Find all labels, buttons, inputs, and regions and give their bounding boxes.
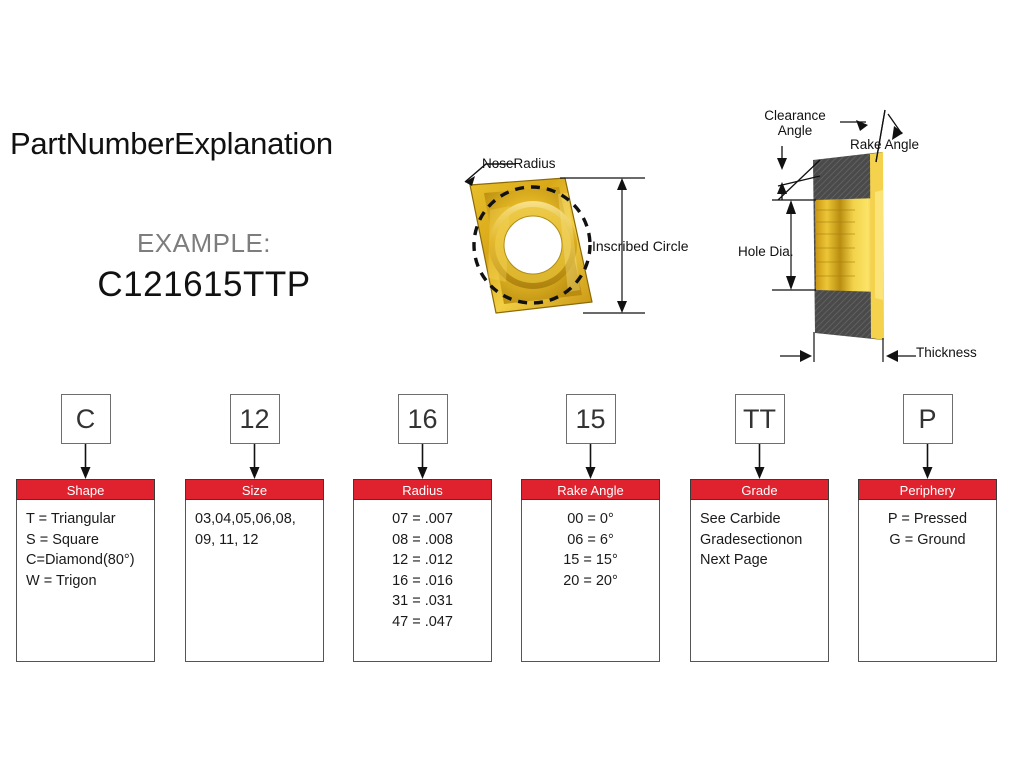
code-chip-shape: C xyxy=(61,394,111,444)
code-chip-size: 12 xyxy=(230,394,280,444)
column-header: Grade xyxy=(690,479,829,500)
column-size: Size03,04,05,06,08,09, 11, 12 xyxy=(185,479,324,662)
clearance-arrow-down xyxy=(777,158,787,170)
hole-dia-label: Hole Dia. xyxy=(738,244,794,259)
column-body: T = TriangularS = SquareC=Diamond(80°)W … xyxy=(16,500,155,662)
example-label: EXAMPLE: xyxy=(44,228,364,259)
column-radius: Radius07 = .00708 = .00812 = .01216 = .0… xyxy=(353,479,492,662)
column-line: P = Pressed xyxy=(859,509,996,530)
chip-arrow xyxy=(754,444,765,480)
column-shape: ShapeT = TriangularS = SquareC=Diamond(8… xyxy=(16,479,155,662)
column-line: G = Ground xyxy=(859,530,996,551)
column-line: 03,04,05,06,08, xyxy=(186,509,323,530)
column-header: Periphery xyxy=(858,479,997,500)
column-line: 31 = .031 xyxy=(354,591,491,612)
column-header: Size xyxy=(185,479,324,500)
rake-angle-label: Rake Angle xyxy=(850,137,919,152)
column-line: 20 = 20° xyxy=(522,571,659,592)
page-title: PartNumberExplanation xyxy=(10,126,430,162)
chip-arrow xyxy=(585,444,596,480)
column-periphery: PeripheryP = PressedG = Ground xyxy=(858,479,997,662)
diagram-canvas: PartNumberExplanation EXAMPLE: C121615TT… xyxy=(0,0,1024,768)
chip-arrow xyxy=(249,444,260,480)
column-line: 08 = .008 xyxy=(354,530,491,551)
insert-cross-section-diagram: Clearance Angle Rake Angle Hole Dia. Thi… xyxy=(720,100,1024,380)
column-line: See Carbide xyxy=(691,509,828,530)
example-part-number: C121615TTP xyxy=(44,265,364,305)
code-chip-rake-angle: 15 xyxy=(566,394,616,444)
code-chip-periphery: P xyxy=(903,394,953,444)
code-chip-radius: 16 xyxy=(398,394,448,444)
column-line: 47 = .047 xyxy=(354,612,491,633)
column-header: Shape xyxy=(16,479,155,500)
column-body: 03,04,05,06,08,09, 11, 12 xyxy=(185,500,324,662)
column-line: 07 = .007 xyxy=(354,509,491,530)
chip-arrow xyxy=(922,444,933,480)
hole-arrow-up xyxy=(786,200,796,214)
thickness-arrow-right xyxy=(886,350,898,362)
ic-arrow-down xyxy=(617,301,627,313)
column-line: 00 = 0° xyxy=(522,509,659,530)
chip-arrow xyxy=(80,444,91,480)
column-line: W = Trigon xyxy=(17,571,154,592)
nose-radius-label: NoseRadius xyxy=(482,156,556,171)
column-body: 00 = 0°06 = 6°15 = 15°20 = 20° xyxy=(521,500,660,662)
code-chip-grade: TT xyxy=(735,394,785,444)
insert-face-diagram: NoseRadius Inscribed Circle xyxy=(440,150,730,350)
column-line: 15 = 15° xyxy=(522,550,659,571)
insert-body xyxy=(470,178,592,313)
clearance-angle-line2: Angle xyxy=(778,123,813,138)
column-line: 16 = .016 xyxy=(354,571,491,592)
column-header: Radius xyxy=(353,479,492,500)
column-rake-angle: Rake Angle00 = 0°06 = 6°15 = 15°20 = 20° xyxy=(521,479,660,662)
thickness-label: Thickness xyxy=(916,345,977,360)
column-line: Next Page xyxy=(691,550,828,571)
column-line: 12 = .012 xyxy=(354,550,491,571)
column-header: Rake Angle xyxy=(521,479,660,500)
insert-side-body xyxy=(813,152,884,340)
column-body: P = PressedG = Ground xyxy=(858,500,997,662)
column-body: See CarbideGradesectiononNext Page xyxy=(690,500,829,662)
column-body: 07 = .00708 = .00812 = .01216 = .01631 =… xyxy=(353,500,492,662)
column-line: Gradesectionon xyxy=(691,530,828,551)
clearance-angle-label: Clearance Angle xyxy=(758,108,832,138)
inscribed-circle-label: Inscribed Circle xyxy=(592,238,688,254)
ic-arrow-up xyxy=(617,178,627,190)
clearance-angle-line1: Clearance xyxy=(764,108,826,123)
column-line: S = Square xyxy=(17,530,154,551)
thickness-arrow-left xyxy=(800,350,812,362)
column-line: T = Triangular xyxy=(17,509,154,530)
column-grade: GradeSee CarbideGradesectiononNext Page xyxy=(690,479,829,662)
column-line: 09, 11, 12 xyxy=(186,530,323,551)
hole-arrow-down xyxy=(786,276,796,290)
chip-arrow xyxy=(417,444,428,480)
column-line: C=Diamond(80°) xyxy=(17,550,154,571)
column-line: 06 = 6° xyxy=(522,530,659,551)
